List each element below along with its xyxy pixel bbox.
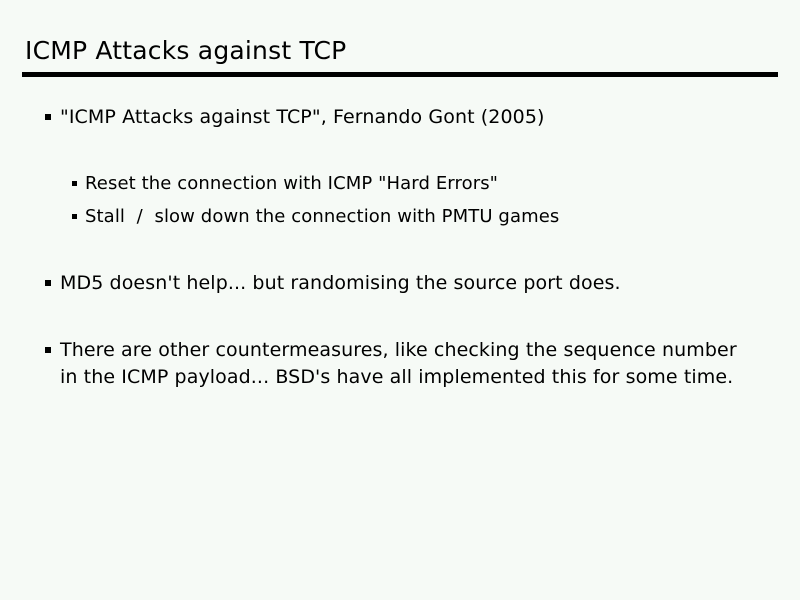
list-item-label: Stall / slow down the connection with PM…	[85, 204, 740, 230]
list-item-label: MD5 doesn't help... but randomising the …	[60, 270, 740, 297]
spacer	[0, 297, 800, 337]
spacer	[0, 197, 800, 204]
spacer	[0, 131, 800, 171]
square-bullet-icon	[45, 114, 51, 120]
list-item: MD5 doesn't help... but randomising the …	[0, 270, 800, 297]
spacer	[0, 230, 800, 270]
list-item-label: There are other countermeasures, like ch…	[60, 337, 740, 391]
list-item-label: "ICMP Attacks against TCP", Fernando Gon…	[60, 104, 740, 131]
slide: ICMP Attacks against TCP "ICMP Attacks a…	[0, 0, 800, 600]
title-divider	[22, 72, 778, 77]
list-item: Stall / slow down the connection with PM…	[0, 204, 800, 230]
square-bullet-icon	[45, 347, 51, 353]
list-item: There are other countermeasures, like ch…	[0, 337, 800, 391]
slide-body: "ICMP Attacks against TCP", Fernando Gon…	[0, 104, 800, 391]
square-bullet-small-icon	[72, 181, 77, 186]
square-bullet-icon	[45, 280, 51, 286]
list-item-label: Reset the connection with ICMP "Hard Err…	[85, 171, 740, 197]
list-item: Reset the connection with ICMP "Hard Err…	[0, 171, 800, 197]
list-item: "ICMP Attacks against TCP", Fernando Gon…	[0, 104, 800, 131]
square-bullet-small-icon	[72, 214, 77, 219]
page-title: ICMP Attacks against TCP	[25, 36, 346, 66]
